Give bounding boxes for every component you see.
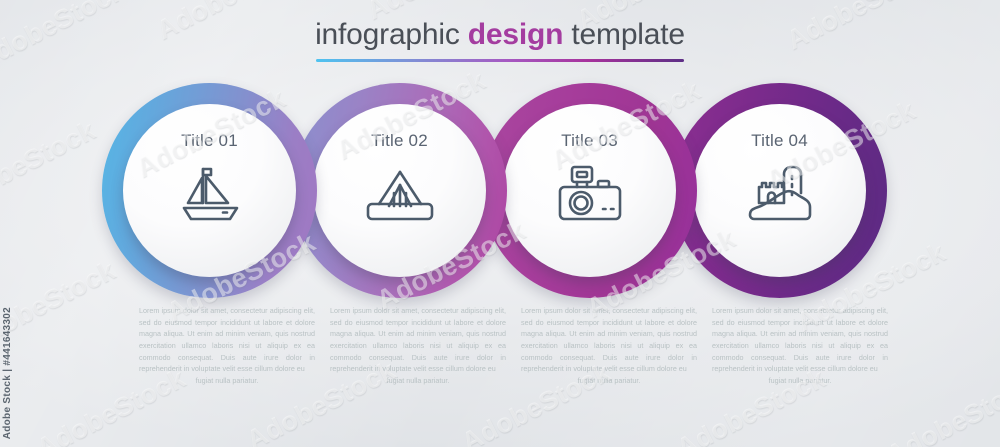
sailboat-icon <box>173 163 247 225</box>
step-title-2: Title 02 <box>371 132 428 149</box>
page-title: infographic design template <box>0 20 1000 62</box>
step-title-4: Title 04 <box>751 132 808 149</box>
step-description-4-last: fugiat nulla pariatur. <box>712 375 888 387</box>
step-disc-3[interactable]: Title 03 <box>503 104 676 277</box>
step-description-3-main: Lorem ipsum dolor sit amet, consectetur … <box>521 306 697 373</box>
step-ring-row: Title 01 Title 02 <box>0 83 1000 298</box>
title-underline-gradient <box>316 59 684 62</box>
step-disc-1[interactable]: Title 01 <box>123 104 296 277</box>
step-disc-4[interactable]: Title 04 <box>693 104 866 277</box>
title-word-accent: design <box>468 18 563 51</box>
camping-tent-icon <box>363 163 437 225</box>
title-line: infographic design template <box>0 20 1000 50</box>
step-description-2-last: fugiat nulla pariatur. <box>330 375 506 387</box>
sandcastle-icon <box>743 163 817 225</box>
step-item-2[interactable]: Title 02 <box>292 83 507 298</box>
step-description-1: Lorem ipsum dolor sit amet, consectetur … <box>139 305 315 387</box>
step-title-1: Title 01 <box>181 132 238 149</box>
step-item-4[interactable]: Title 04 <box>672 83 887 298</box>
title-word-2: template <box>563 18 685 51</box>
step-description-row: Lorem ipsum dolor sit amet, consectetur … <box>0 305 1000 425</box>
step-description-1-last: fugiat nulla pariatur. <box>139 375 315 387</box>
title-word-1: infographic <box>315 18 468 51</box>
step-title-3: Title 03 <box>561 132 618 149</box>
step-disc-2[interactable]: Title 02 <box>313 104 486 277</box>
step-item-3[interactable]: Title 03 <box>482 83 697 298</box>
photo-camera-icon <box>553 163 627 225</box>
step-description-3-last: fugiat nulla pariatur. <box>521 375 697 387</box>
step-description-2: Lorem ipsum dolor sit amet, consectetur … <box>330 305 506 387</box>
poster-canvas: infographic design template Title 01 <box>0 0 1000 447</box>
step-item-1[interactable]: Title 01 <box>102 83 317 298</box>
watermark-asset-id: Adobe Stock | #441643302 <box>2 307 13 439</box>
step-description-4: Lorem ipsum dolor sit amet, consectetur … <box>712 305 888 387</box>
step-description-4-main: Lorem ipsum dolor sit amet, consectetur … <box>712 306 888 373</box>
step-description-3: Lorem ipsum dolor sit amet, consectetur … <box>521 305 697 387</box>
step-description-1-main: Lorem ipsum dolor sit amet, consectetur … <box>139 306 315 373</box>
step-description-2-main: Lorem ipsum dolor sit amet, consectetur … <box>330 306 506 373</box>
